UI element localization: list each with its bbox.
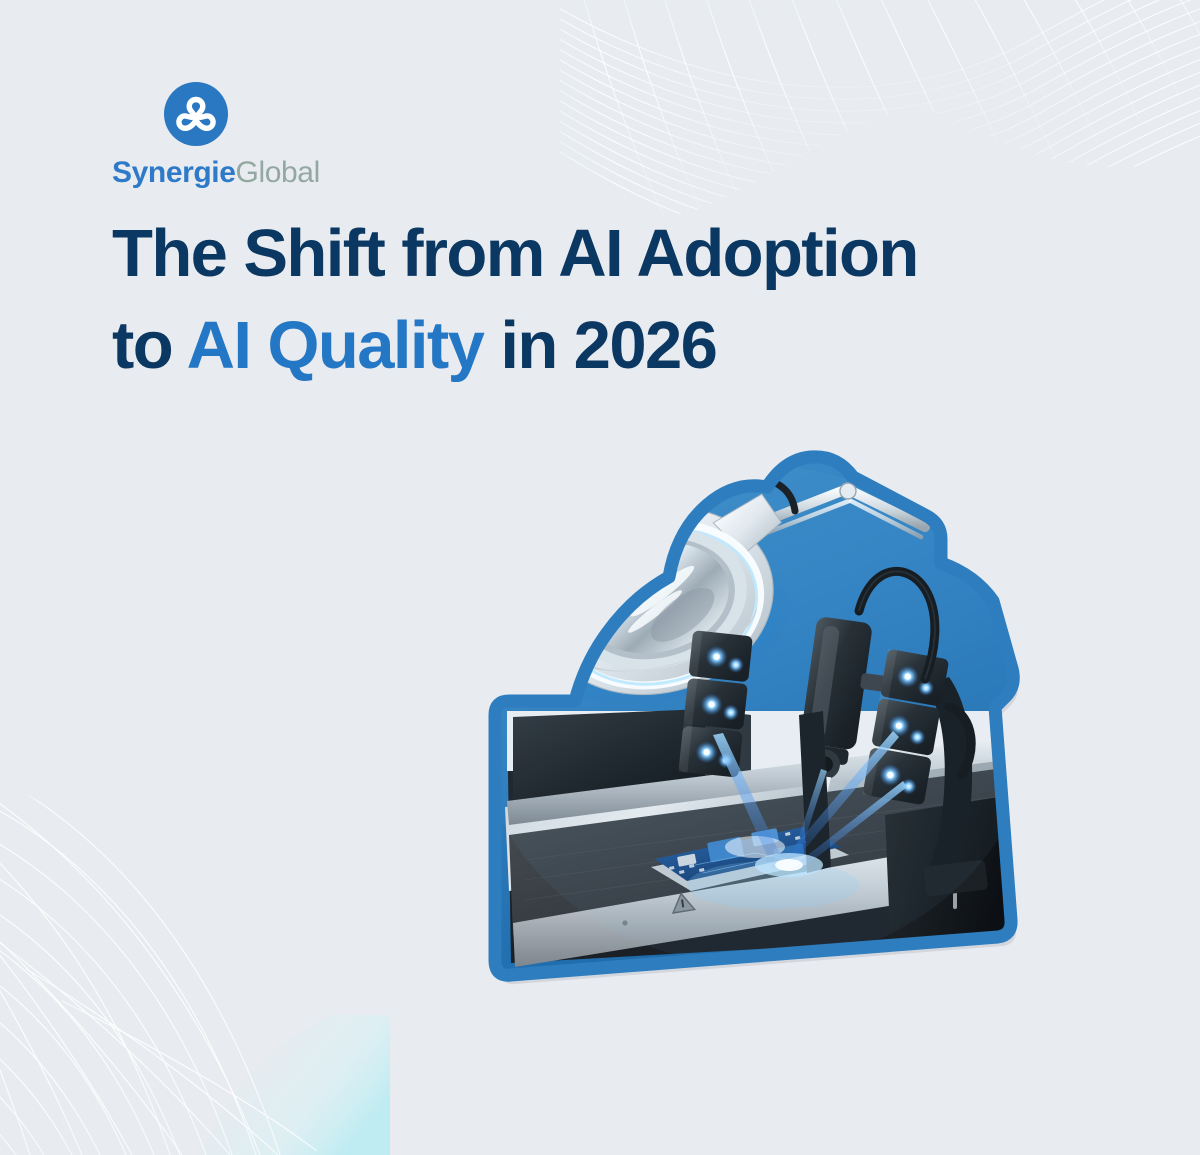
wireframe-sphere-mesh-icon bbox=[0, 685, 390, 1155]
brand-name-secondary: Global bbox=[236, 156, 320, 189]
brand-lockup: SynergieGlobal bbox=[112, 82, 320, 188]
headline-line-2-suffix: in 2026 bbox=[483, 308, 716, 383]
brand-wordmark: SynergieGlobal bbox=[112, 158, 320, 188]
headline-accent: AI Quality bbox=[187, 308, 484, 383]
trefoil-logo-icon bbox=[164, 82, 228, 146]
inspection-station-photo bbox=[455, 415, 1055, 995]
headline-line-2-prefix: to bbox=[112, 308, 187, 383]
inspection-station-illustration bbox=[455, 415, 1055, 995]
brand-name-primary: Synergie bbox=[112, 156, 236, 189]
page-title: The Shift from AI Adoption to AI Quality… bbox=[112, 208, 1102, 393]
headline-line-1: The Shift from AI Adoption bbox=[112, 216, 918, 291]
